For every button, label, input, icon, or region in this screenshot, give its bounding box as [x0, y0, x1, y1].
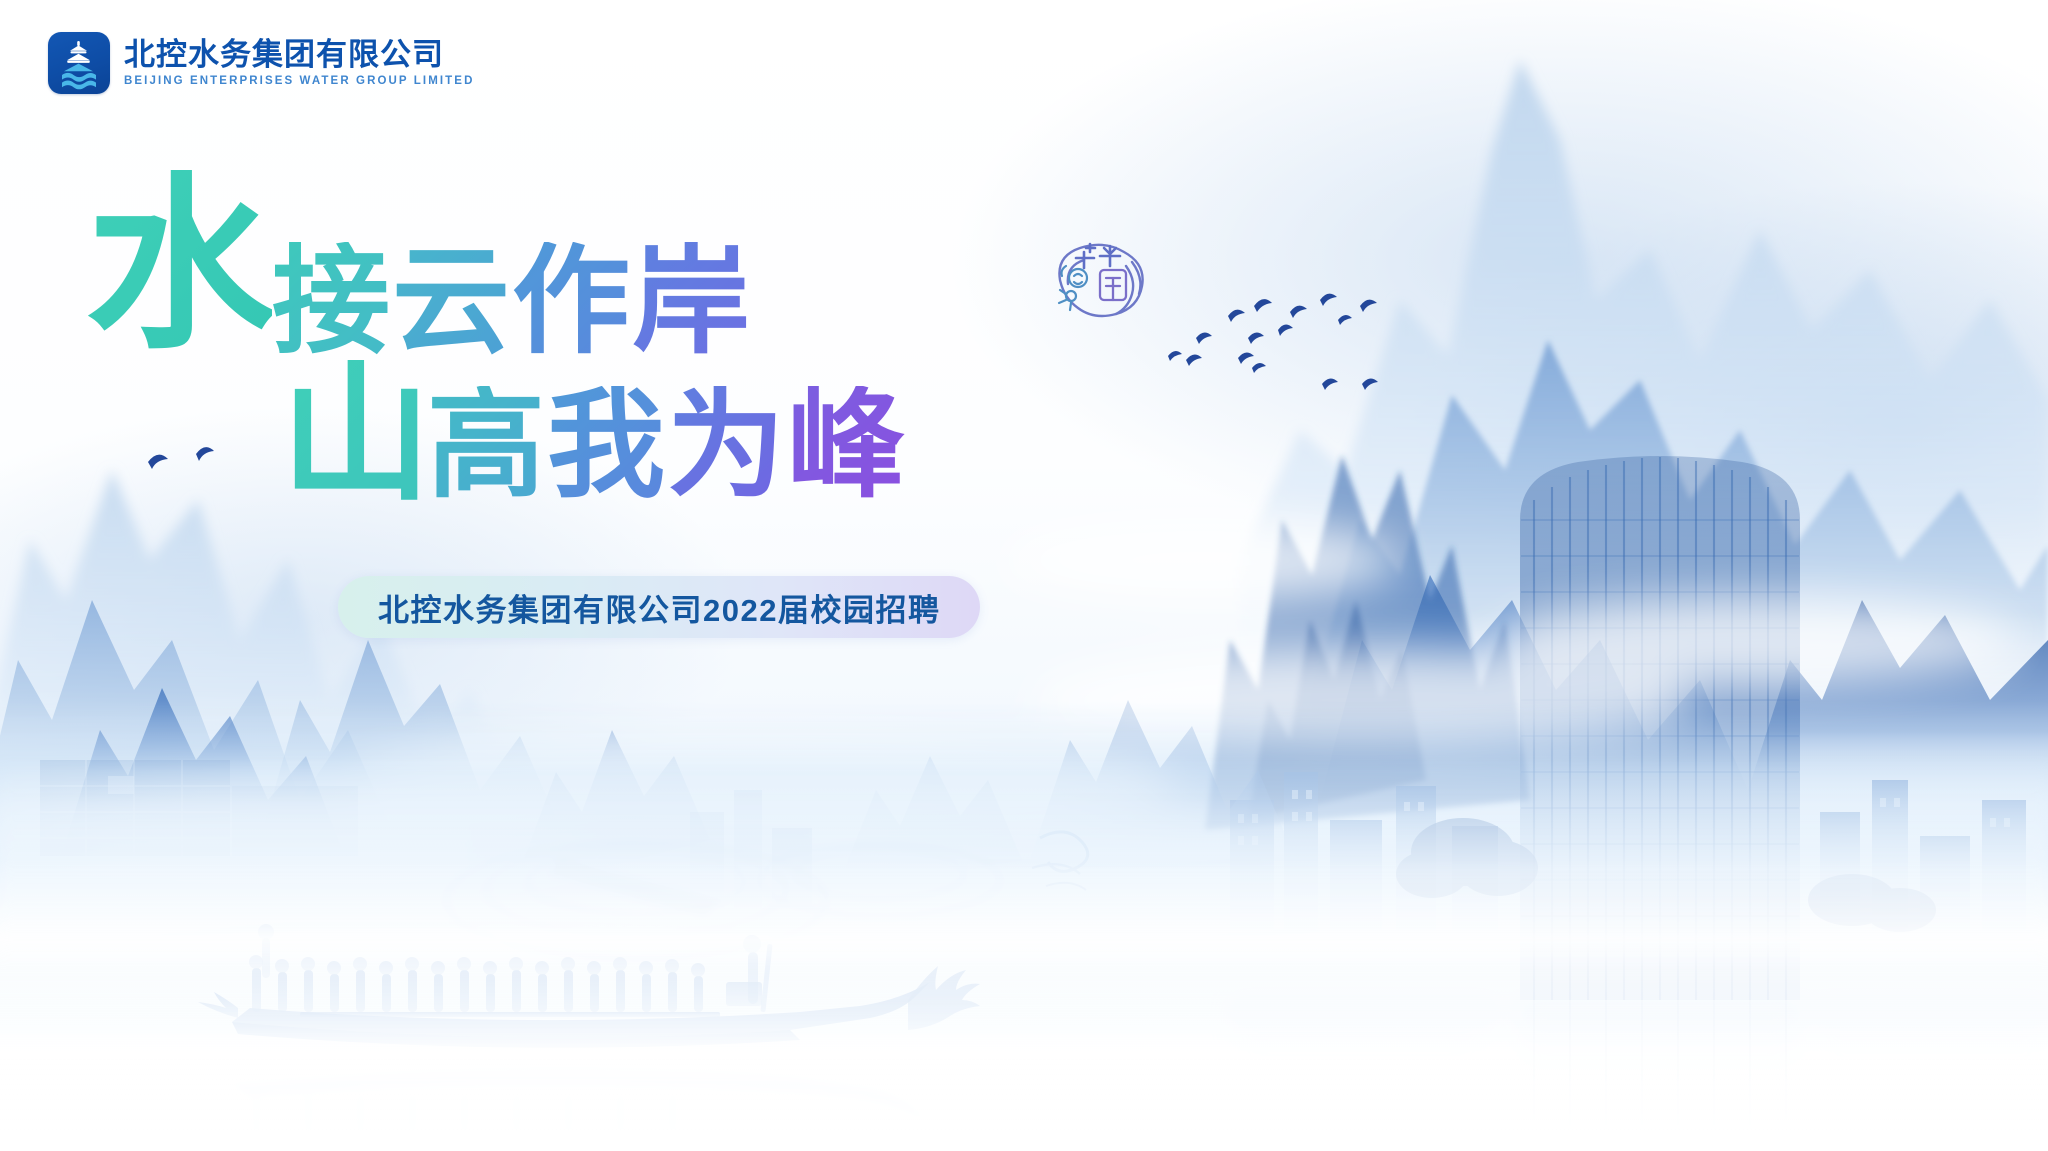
ink-rock-mass — [1205, 455, 1530, 830]
logo-text: 北控水务集团有限公司 BEIJING ENTERPRISES WATER GRO… — [124, 39, 474, 87]
headline-line-2: 山 高 我 为 峰 — [281, 354, 1186, 504]
rowers — [249, 924, 773, 1017]
city-windows-right — [1238, 790, 2010, 845]
company-logo[interactable]: 北控水务集团有限公司 BEIJING ENTERPRISES WATER GRO… — [48, 32, 474, 94]
headline-char: 峰 — [787, 386, 907, 504]
reflection-mullions — [1534, 1000, 1786, 1146]
logo-company-cn: 北控水务集团有限公司 — [124, 39, 474, 72]
near-mountains-right — [1320, 575, 2048, 830]
water-plant-left — [40, 760, 358, 856]
headline-line-1: 水 接 云 作 岸 — [86, 170, 1186, 360]
dragon-boat — [198, 924, 980, 1048]
recruitment-badge-label: 北控水务集团有限公司2022届校园招聘 — [378, 585, 940, 630]
headline-char: 山 — [281, 360, 427, 510]
shoreline — [120, 860, 1320, 941]
water-ripple-swirl — [1032, 832, 1088, 890]
water-shine — [0, 860, 2048, 1020]
headline-char: 接 — [272, 242, 392, 360]
headline-char: 作 — [512, 242, 632, 360]
logo-company-en: BEIJING ENTERPRISES WATER GROUP LIMITED — [124, 75, 474, 87]
tower-mullions — [1534, 457, 1786, 1000]
city-skyline-right — [1230, 772, 2026, 932]
dragon-boat-reflection — [232, 1069, 930, 1151]
mid-mountains-left — [0, 600, 566, 860]
far-mountains-right — [1240, 60, 2048, 700]
low-mist — [0, 760, 2048, 960]
decorative-seal-icon — [1038, 222, 1150, 334]
poster-canvas: 北控水务集团有限公司 BEIJING ENTERPRISES WATER GRO… — [0, 0, 2048, 1151]
water-reflections — [1230, 1000, 2048, 1148]
helmsman — [726, 935, 773, 1012]
tower-floor-lines — [1521, 520, 1799, 916]
mist-strokes — [0, 520, 2020, 880]
headline-char: 岸 — [632, 242, 752, 360]
headline-char: 云 — [392, 242, 512, 360]
recruitment-badge[interactable]: 北控水务集团有限公司2022届校园招聘 — [338, 576, 980, 638]
mid-mountains-right — [1310, 340, 2048, 760]
mid-peaks-center-left — [840, 700, 1296, 895]
tree-clumps — [1396, 818, 1936, 932]
headline-slogan: 水 接 云 作 岸 山 高 我 为 峰 — [86, 170, 1186, 504]
headline-char: 为 — [667, 386, 787, 504]
water-band — [0, 700, 2048, 1151]
clarifier-tanks — [446, 826, 1000, 958]
headline-char: 高 — [427, 386, 547, 504]
headline-char: 我 — [547, 386, 667, 504]
glass-office-tower — [1520, 456, 1800, 1000]
near-mountains-left — [60, 688, 710, 890]
temple-of-heaven-waves-icon — [48, 32, 110, 94]
headline-char: 水 — [86, 170, 272, 360]
city-skyline-center — [690, 790, 812, 908]
